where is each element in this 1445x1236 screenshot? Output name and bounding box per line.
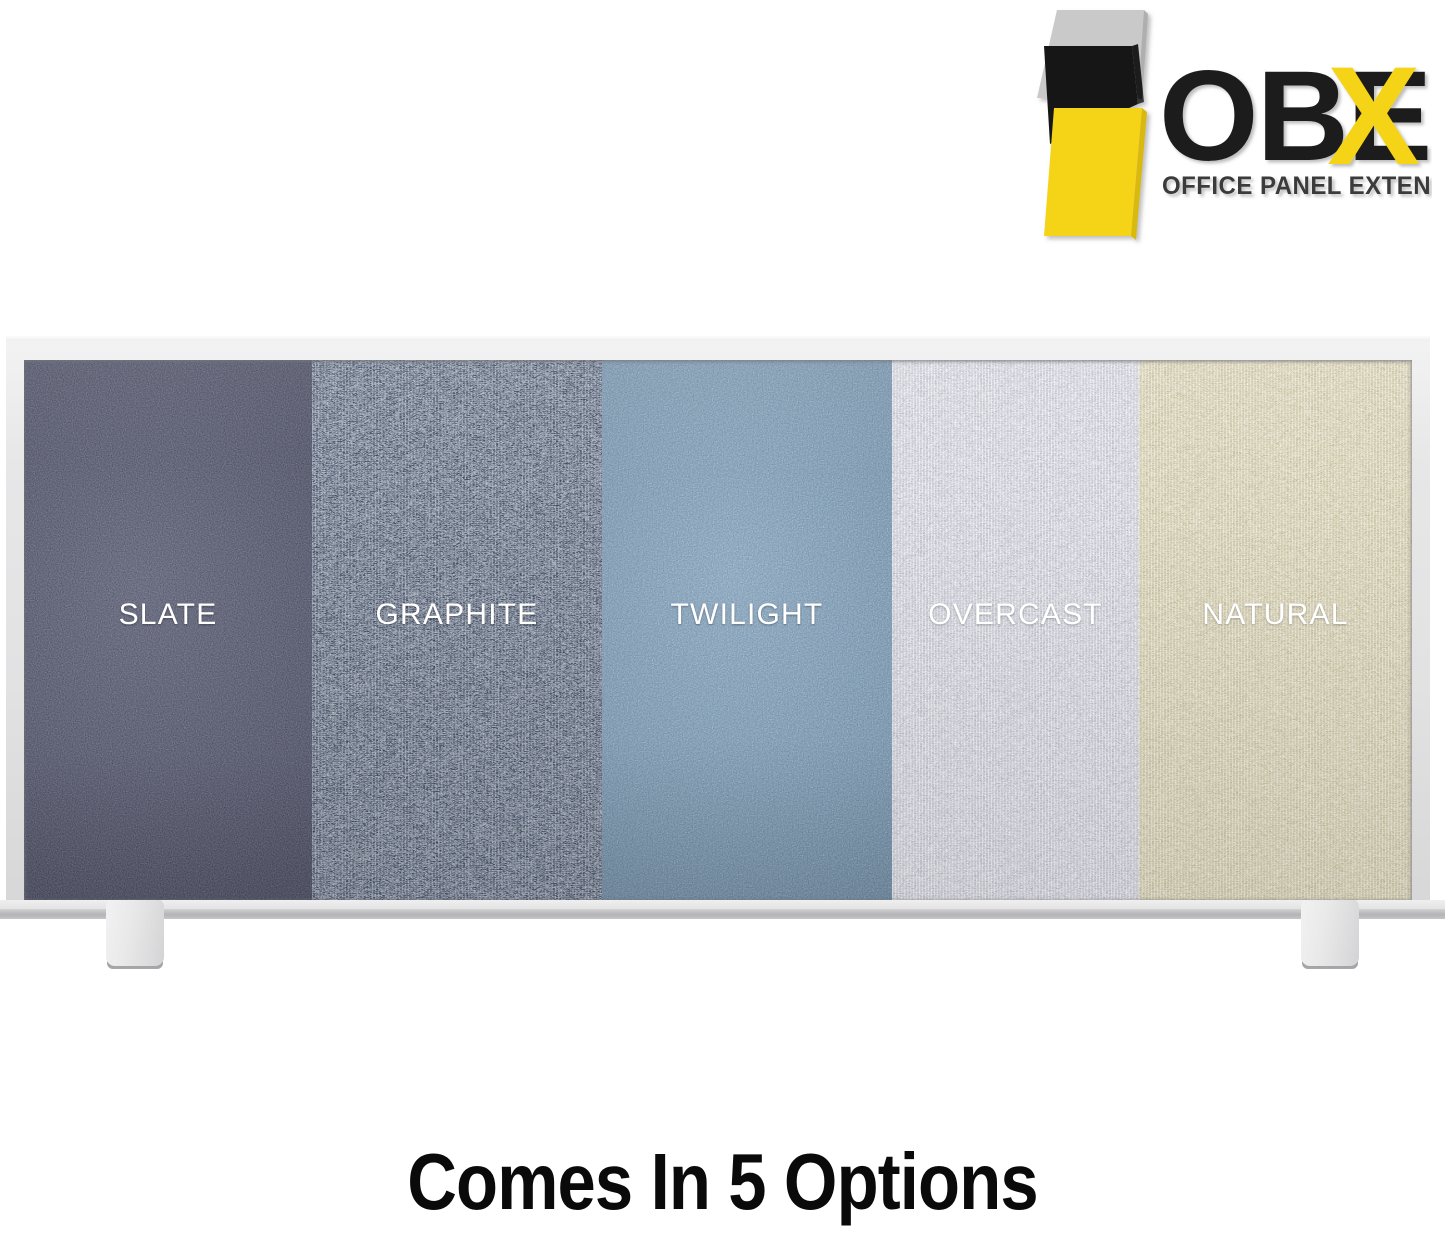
panel-foot-left: [106, 898, 164, 976]
swatch-label-twilight: TWILIGHT: [602, 600, 892, 630]
panel-foot-left-body: [106, 898, 164, 966]
swatch-label-natural: NATURAL: [1139, 600, 1412, 630]
swatch-graphite[interactable]: GRAPHITE: [312, 360, 602, 900]
obex-logo-svg: OBE X OFFICE PANEL EXTENDERS: [1032, 8, 1432, 248]
logo-tagline: OFFICE PANEL EXTENDERS: [1162, 173, 1432, 201]
swatch-label-overcast: OVERCAST: [892, 600, 1139, 630]
logo-wordmark: OBE X OFFICE PANEL EXTENDERS: [1159, 37, 1432, 200]
panel-extender: SLATE: [6, 336, 1430, 918]
panel-bottom-rail: [0, 900, 1445, 919]
fabric-swatch-row: SLATE: [24, 360, 1412, 900]
logo-mark: [1037, 10, 1148, 240]
obex-logo: OBE X OFFICE PANEL EXTENDERS: [1032, 8, 1432, 248]
swatch-slate[interactable]: SLATE: [24, 360, 312, 900]
logo-mark-yellow-shape: [1044, 108, 1142, 236]
swatch-overcast[interactable]: OVERCAST: [892, 360, 1139, 900]
panel-foot-right: [1301, 898, 1359, 976]
panel-bottom-rail-highlight: [0, 900, 1445, 909]
swatch-natural[interactable]: NATURAL: [1139, 360, 1412, 900]
swatch-label-slate: SLATE: [24, 600, 312, 630]
swatch-label-graphite: GRAPHITE: [312, 600, 602, 630]
panel-foot-right-body: [1301, 898, 1359, 966]
swatch-twilight[interactable]: TWILIGHT: [602, 360, 892, 900]
panel-frame-highlight: [6, 336, 1430, 341]
logo-wordmark-x: X: [1327, 37, 1420, 194]
caption-text: Comes In 5 Options: [101, 1142, 1344, 1222]
